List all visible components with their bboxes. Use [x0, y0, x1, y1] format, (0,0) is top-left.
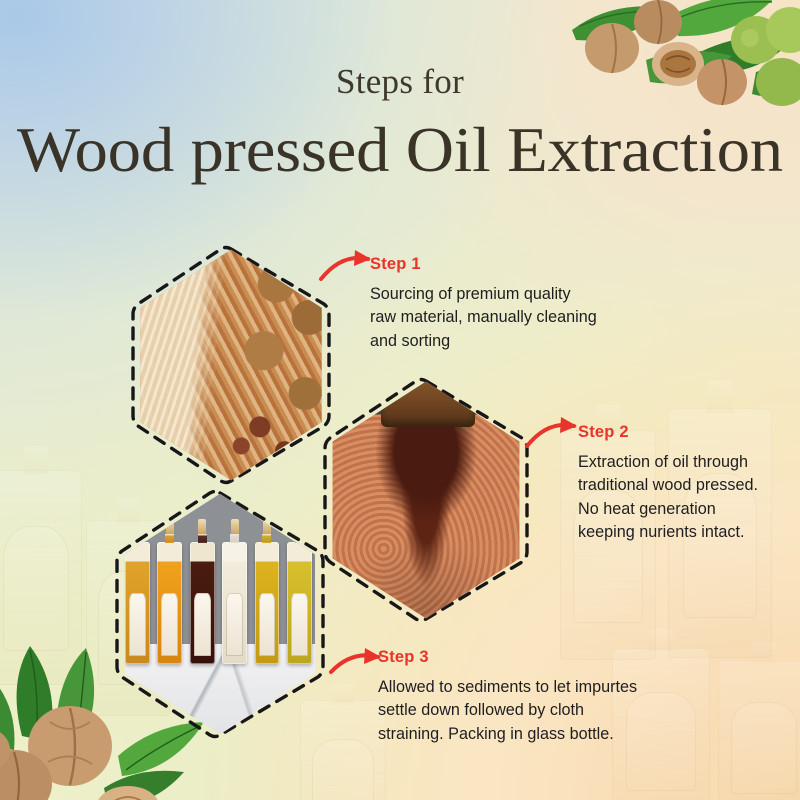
- step-1-description: Sourcing of premium quality raw material…: [370, 283, 597, 353]
- step-1-hexagon[interactable]: [128, 246, 334, 484]
- kicker-text: Steps for: [0, 62, 800, 102]
- oil-bottle: [287, 542, 312, 664]
- poster-heading-block: Steps for Wood pressed Oil Extraction: [0, 62, 800, 187]
- bottle-label: [226, 593, 243, 656]
- arrow-to-step-2-icon: [524, 413, 584, 453]
- oil-bottle: [222, 542, 247, 664]
- infographic-poster: Steps for Wood pressed Oil Extraction: [0, 0, 800, 800]
- step-3-label: Step 3: [378, 648, 637, 667]
- watermark-bottle: [718, 660, 800, 800]
- step-2-label: Step 2: [578, 423, 758, 442]
- oil-bottle: [190, 542, 215, 664]
- step-1-text-block: Step 1 Sourcing of premium quality raw m…: [370, 255, 597, 353]
- step-2-description: Extraction of oil through traditional wo…: [578, 451, 758, 545]
- step-1-label: Step 1: [370, 255, 597, 274]
- step-3-text-block: Step 3 Allowed to sediments to let impur…: [378, 648, 637, 746]
- page-title: Wood pressed Oil Extraction: [0, 114, 800, 187]
- bottle-label: [161, 593, 178, 656]
- oil-bottle: [157, 542, 182, 664]
- step-2-hexagon[interactable]: [320, 378, 532, 622]
- oil-bottle: [255, 542, 280, 664]
- step-3-hexagon[interactable]: [112, 490, 328, 738]
- step-2-text-block: Step 2 Extraction of oil through traditi…: [578, 423, 758, 545]
- bottle-label: [291, 593, 308, 656]
- bottle-label: [194, 593, 211, 656]
- bottle-label: [259, 593, 276, 656]
- watermark-bottle: [0, 470, 82, 685]
- step-3-description: Allowed to sediments to let impurtes set…: [378, 676, 637, 746]
- oil-bottle: [125, 542, 150, 664]
- bottle-label: [129, 593, 146, 656]
